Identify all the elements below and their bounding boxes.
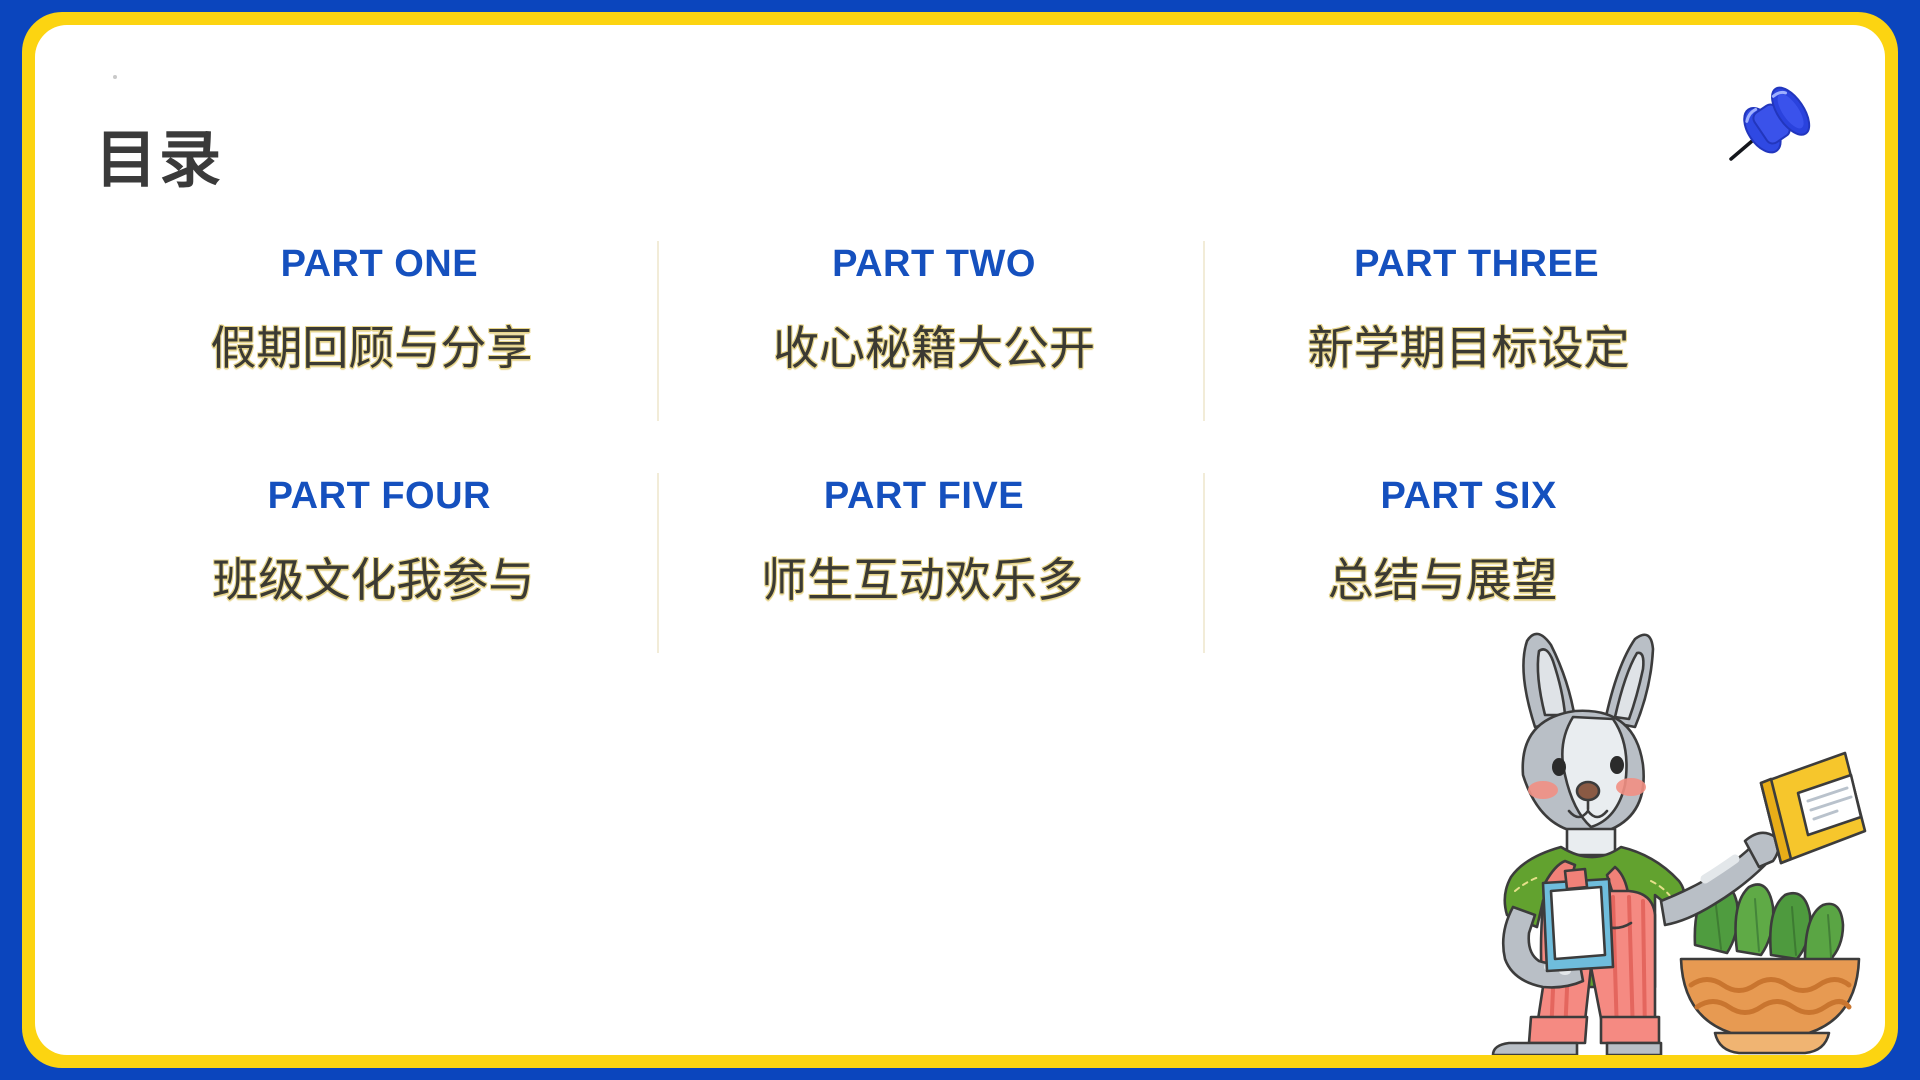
part-title: 总结与展望 [1328,544,1558,610]
part-title: 新学期目标设定 [1308,312,1630,378]
part-label: PART ONE [281,243,479,286]
part-title: 假期回顾与分享 [210,312,532,378]
toc-grid: PART ONE 假期回顾与分享 PART TWO 收心秘籍大公开 PART T… [110,215,1750,679]
part-label: PART THREE [1354,243,1599,286]
slide-root: 目录 PART ONE 假期回顾与分享 [0,0,1920,1080]
toc-item-part-five[interactable]: PART FIVE 师生互动欢乐多 [657,447,1204,679]
toc-item-part-three[interactable]: PART THREE 新学期目标设定 [1203,215,1750,447]
page-title: 目录 [95,130,223,192]
part-label: PART TWO [832,243,1036,286]
part-title: 班级文化我参与 [212,544,534,610]
part-label: PART FIVE [824,475,1024,518]
part-label: PART SIX [1380,475,1556,518]
part-title: 师生互动欢乐多 [761,544,1083,610]
rabbit-mascot-illustration [1465,615,1885,1055]
toc-item-part-six[interactable]: PART SIX 总结与展望 [1203,447,1750,679]
dot-icon [113,75,117,79]
part-title: 收心秘籍大公开 [773,312,1095,378]
pushpin-icon [1721,73,1827,169]
toc-item-part-one[interactable]: PART ONE 假期回顾与分享 [110,215,657,447]
toc-item-part-four[interactable]: PART FOUR 班级文化我参与 [110,447,657,679]
part-label: PART FOUR [268,475,491,518]
toc-item-part-two[interactable]: PART TWO 收心秘籍大公开 [657,215,1204,447]
slide-canvas: 目录 PART ONE 假期回顾与分享 [35,25,1885,1055]
